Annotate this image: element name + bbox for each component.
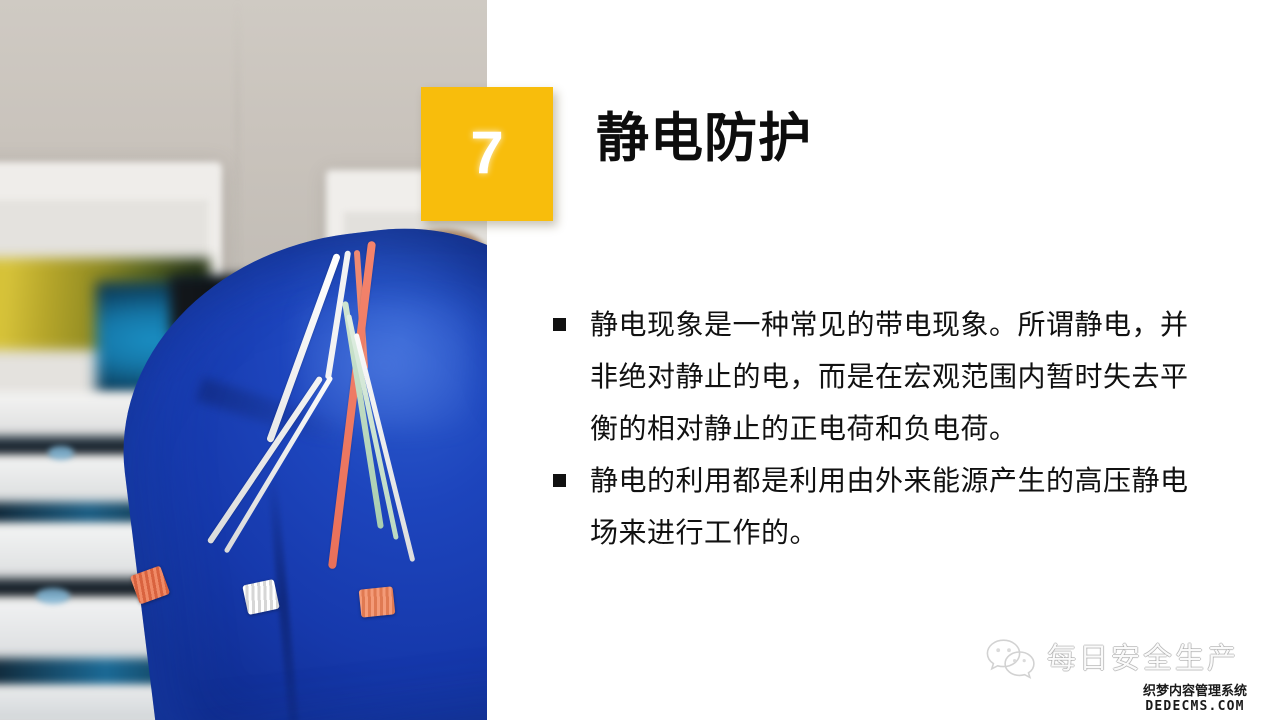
bullet-square-icon xyxy=(553,318,566,331)
slide-photo xyxy=(0,0,487,720)
photo-bokeh-speck xyxy=(36,588,70,604)
section-number-badge: 7 xyxy=(421,87,553,221)
wechat-icon xyxy=(983,637,1037,679)
section-number-label: 7 xyxy=(421,123,553,183)
bullet-text: 静电现象是一种常见的带电现象。所谓静电，并非绝对静止的电，而是在宏观范围内暂时失… xyxy=(590,299,1203,455)
slide-canvas: 7 静电防护 静电现象是一种常见的带电现象。所谓静电，并非绝对静止的电，而是在宏… xyxy=(0,0,1280,720)
wechat-watermark: 每日安全生产 xyxy=(983,637,1239,679)
slide-title: 静电防护 xyxy=(596,109,812,170)
list-item: 静电现象是一种常见的带电现象。所谓静电，并非绝对静止的电，而是在宏观范围内暂时失… xyxy=(553,299,1203,455)
photo-uniform-highlight xyxy=(300,300,470,430)
dedecms-watermark: 织梦内容管理系统 DEDECMS.COM xyxy=(1143,684,1247,714)
photo-wall-seam xyxy=(236,0,239,300)
dedecms-watermark-chinese: 织梦内容管理系统 xyxy=(1143,684,1247,699)
photo-bokeh-speck xyxy=(48,446,74,460)
photo-connector-orange xyxy=(359,586,396,617)
list-item: 静电的利用都是利用由外来能源产生的高压静电场来进行工作的。 xyxy=(553,455,1203,559)
bullet-text: 静电的利用都是利用由外来能源产生的高压静电场来进行工作的。 xyxy=(590,455,1203,559)
bullet-list: 静电现象是一种常见的带电现象。所谓静电，并非绝对静止的电，而是在宏观范围内暂时失… xyxy=(553,299,1203,559)
wechat-watermark-label: 每日安全生产 xyxy=(1047,644,1239,673)
dedecms-watermark-english: DEDECMS.COM xyxy=(1143,699,1247,714)
bullet-square-icon xyxy=(553,474,566,487)
